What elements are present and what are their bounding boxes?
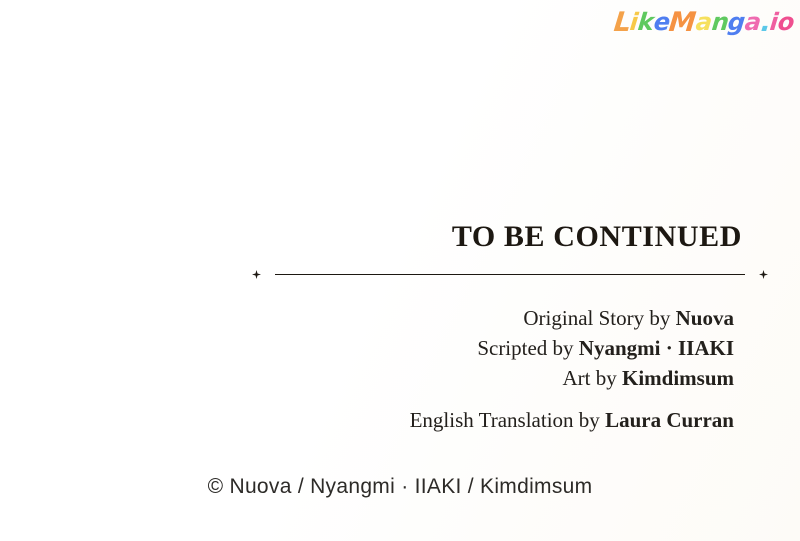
divider bbox=[0, 270, 800, 279]
divider-line bbox=[275, 274, 745, 275]
credit-prefix: Art by bbox=[562, 366, 622, 390]
credit-name: Nuova bbox=[676, 306, 734, 330]
credit-line-scripted-by: Scripted by Nyangmi · IIAKI bbox=[0, 333, 734, 363]
copyright-notice: © Nuova / Nyangmi · IIAKI / Kimdimsum bbox=[0, 475, 800, 499]
credit-prefix: English Translation by bbox=[410, 408, 605, 432]
logo-letter: M bbox=[668, 9, 697, 36]
logo-letter: a bbox=[744, 10, 762, 34]
logo-letter: o bbox=[777, 10, 796, 34]
credit-prefix: Original Story by bbox=[523, 306, 675, 330]
credit-name: Kimdimsum bbox=[622, 366, 734, 390]
diamond-star-icon-left bbox=[252, 270, 261, 279]
credit-prefix: Scripted by bbox=[477, 336, 578, 360]
credit-line-english-translation: English Translation by Laura Curran bbox=[0, 405, 734, 435]
diamond-star-icon-right bbox=[759, 270, 768, 279]
likemanga-io-logo: LikeManga.io bbox=[614, 4, 794, 40]
credit-line-original-story: Original Story by Nuova bbox=[0, 303, 734, 333]
credit-name: Nyangmi · IIAKI bbox=[579, 336, 734, 360]
end-card-page: LikeManga.io TO BE CONTINUED Original St… bbox=[0, 0, 800, 541]
to-be-continued-title: TO BE CONTINUED bbox=[0, 222, 800, 252]
credits-block: Original Story by Nuova Scripted by Nyan… bbox=[0, 303, 800, 435]
credit-name: Laura Curran bbox=[605, 408, 734, 432]
to-be-continued-block: TO BE CONTINUED bbox=[0, 222, 800, 279]
credit-line-art-by: Art by Kimdimsum bbox=[0, 363, 734, 393]
